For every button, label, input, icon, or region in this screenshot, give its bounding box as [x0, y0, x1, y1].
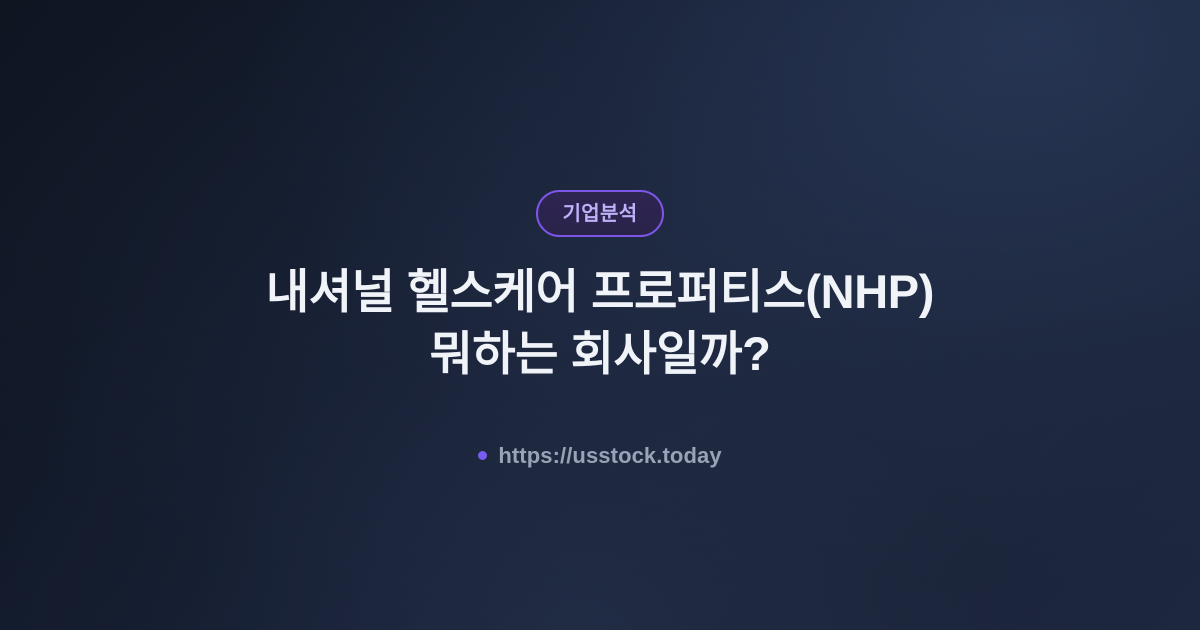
content-stack: 기업분석 내셔널 헬스케어 프로퍼티스(NHP) 뭐하는 회사일까? https… [0, 0, 1200, 469]
page-title-line-1: 내셔널 헬스케어 프로퍼티스(NHP) [80, 261, 1120, 323]
page-title: 내셔널 헬스케어 프로퍼티스(NHP) 뭐하는 회사일까? [80, 261, 1120, 385]
page-title-line-2: 뭐하는 회사일까? [80, 323, 1120, 385]
site-url-label: https://usstock.today [498, 443, 721, 469]
category-badge: 기업분석 [536, 190, 665, 237]
badge-row: 기업분석 [536, 190, 665, 237]
og-card: 기업분석 내셔널 헬스케어 프로퍼티스(NHP) 뭐하는 회사일까? https… [0, 0, 1200, 630]
site-url-row: https://usstock.today [478, 443, 721, 469]
bullet-dot-icon [478, 451, 487, 460]
